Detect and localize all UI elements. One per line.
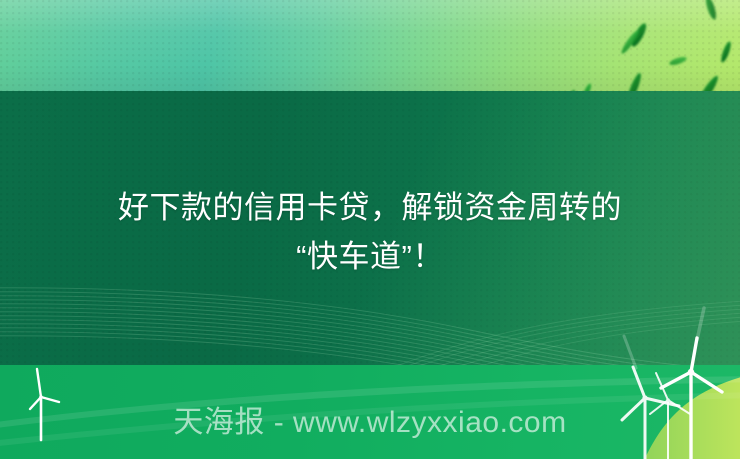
poster-canvas: 好下款的信用卡贷，解锁资金周转的 “快车道”！ 天海报 - www.wlzyxx… — [0, 0, 740, 459]
page-title: 好下款的信用卡贷，解锁资金周转的 “快车道”！ — [0, 183, 740, 281]
watermark-text: 天海报 - www.wlzyxxiao.com — [0, 404, 740, 442]
halftone-dot-texture-top — [0, 0, 740, 92]
